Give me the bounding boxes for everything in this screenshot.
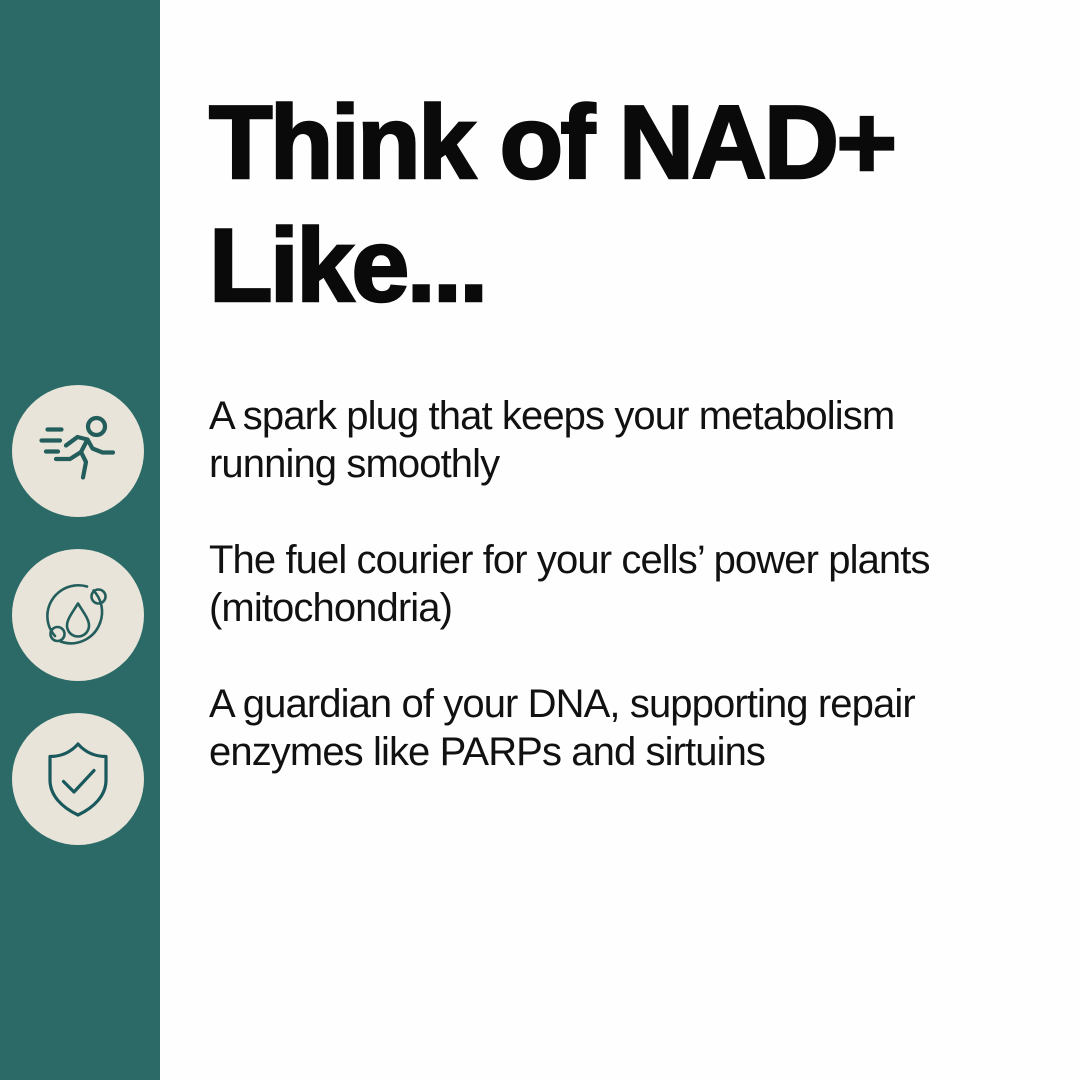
icon-badge-shield (12, 713, 144, 845)
content-area: Think of NAD+ Like... A spark plug that … (160, 0, 1080, 1080)
page-title: Think of NAD+ Like... (209, 82, 1039, 327)
sidebar-icon-stack (0, 0, 160, 1080)
bullet-item-2: The fuel courier for your cells’ power p… (209, 536, 1014, 632)
slide-root: Think of NAD+ Like... A spark plug that … (0, 0, 1080, 1080)
icon-badge-running (12, 385, 144, 517)
icon-badge-fuel (12, 549, 144, 681)
bullet-list: A spark plug that keeps your metabolism … (209, 392, 1014, 776)
bullet-item-1: A spark plug that keeps your metabolism … (209, 392, 1014, 488)
fuel-droplet-orbit-icon (36, 573, 120, 657)
shield-check-icon (36, 737, 120, 821)
bullet-item-3: A guardian of your DNA, supporting repai… (209, 680, 1014, 776)
running-person-icon (34, 407, 122, 495)
